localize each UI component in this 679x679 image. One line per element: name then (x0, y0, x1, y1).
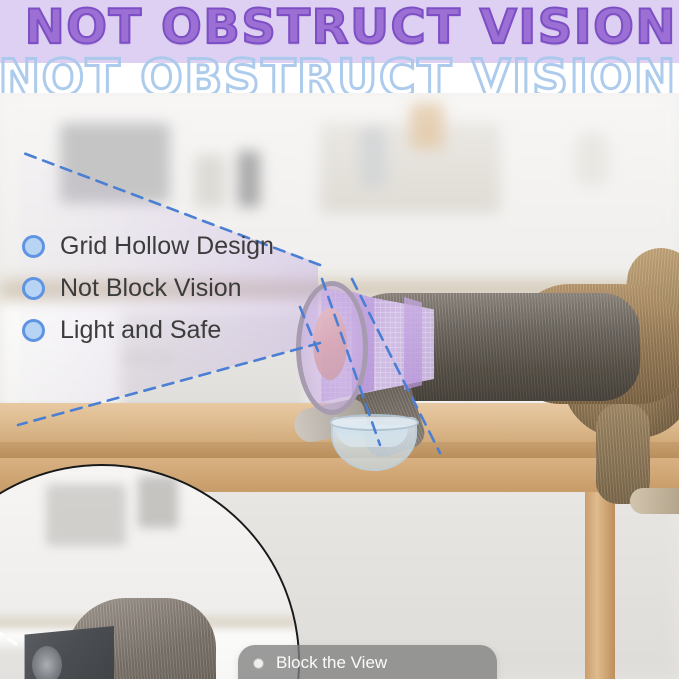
table-leg (585, 492, 615, 679)
bullet-ring-icon (22, 277, 45, 300)
cat-hind-paw (630, 488, 679, 514)
title-area: NOT OBSTRUCT VISION NOT OBSTRUCT VISION (0, 0, 679, 94)
pros-item-label: Not Block Vision (60, 274, 242, 303)
pros-item-label: Grid Hollow Design (60, 232, 274, 261)
main-photo: Grid Hollow Design Not Block Vision Ligh… (0, 93, 679, 679)
pros-item-label: Light and Safe (60, 316, 221, 345)
list-item: Block the View (238, 645, 497, 679)
list-item: Not Block Vision (22, 267, 274, 309)
page-title: NOT OBSTRUCT VISION (25, 0, 677, 58)
cons-item-label: Block the View (276, 653, 387, 673)
list-item: Grid Hollow Design (22, 225, 274, 267)
bowl-rim (329, 414, 419, 431)
mesh-recovery-collar (300, 283, 434, 403)
cons-panel: Block the View Easy to Bump into Things … (238, 645, 497, 679)
collar-band (404, 295, 422, 391)
collar-rim (296, 281, 368, 415)
product-infographic: NOT OBSTRUCT VISION NOT OBSTRUCT VISION (0, 0, 679, 679)
water-bowl (327, 411, 417, 469)
pros-list: Grid Hollow Design Not Block Vision Ligh… (22, 225, 274, 351)
bullet-ring-icon (22, 235, 45, 258)
bullet-dot-icon (254, 659, 263, 668)
bullet-ring-icon (22, 319, 45, 342)
cat-face-through-mesh (313, 308, 347, 380)
list-item: Light and Safe (22, 309, 274, 351)
